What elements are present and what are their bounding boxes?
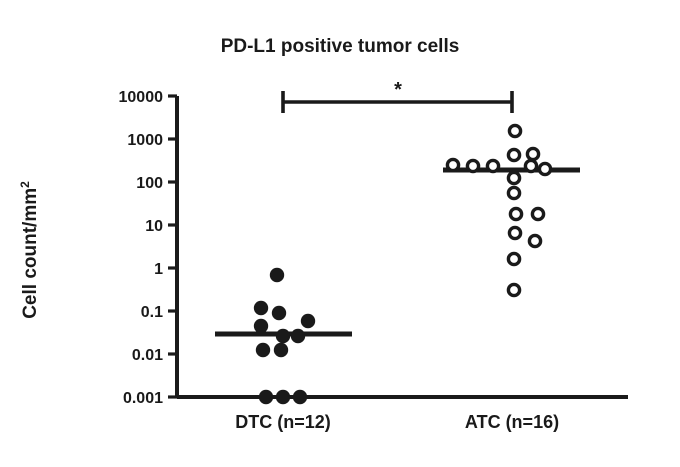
median-lines (215, 170, 580, 334)
axes (168, 96, 628, 397)
y-axis-title-group: Cell count/mm2 (18, 181, 41, 319)
y-axis-tick-label-5: 0.1 (141, 304, 163, 321)
dtc-point-1 (254, 301, 268, 315)
y-axis-tick-label-1: 1000 (127, 132, 163, 149)
y-axis-tick-label-4: 1 (154, 261, 163, 278)
atc-point-10 (510, 208, 521, 219)
atc-point-9 (508, 187, 519, 198)
dtc-point-11 (293, 390, 307, 404)
y-axis-tick-label-2: 100 (136, 175, 163, 192)
atc-point-14 (508, 253, 519, 264)
atc-point-13 (529, 235, 540, 246)
dtc-point-6 (291, 329, 305, 343)
atc-point-15 (508, 284, 519, 295)
dtc-point-8 (274, 343, 288, 357)
dtc-point-0 (270, 268, 284, 282)
chart-title: PD-L1 positive tumor cells (221, 36, 460, 57)
atc-point-0 (509, 125, 520, 136)
y-axis-tick-label-0: 10000 (119, 89, 164, 106)
dtc-point-5 (276, 329, 290, 343)
y-axis-title: Cell count/mm2 (18, 181, 41, 319)
atc-point-7 (539, 163, 550, 174)
x-axis-group-label-dtc: DTC (n=12) (235, 412, 331, 432)
y-axis-tick-labels: 1000010001001010.10.010.001 (119, 89, 164, 407)
atc-point-6 (487, 160, 498, 171)
dtc-point-9 (259, 390, 273, 404)
significance-asterisk: * (394, 79, 402, 101)
dtc-point-3 (301, 314, 315, 328)
dtc-point-10 (276, 390, 290, 404)
atc-data-points (447, 125, 550, 295)
significance-annotation: * (283, 79, 512, 113)
y-axis-tick-label-7: 0.001 (123, 390, 163, 407)
dtc-point-4 (254, 319, 268, 333)
atc-point-5 (467, 160, 478, 171)
atc-point-8 (508, 172, 519, 183)
y-axis-tick-label-3: 10 (145, 218, 163, 235)
atc-point-11 (532, 208, 543, 219)
atc-point-2 (527, 148, 538, 159)
scatter-plot-svg: PD-L1 positive tumor cells * Cell count/… (0, 0, 680, 467)
atc-point-12 (509, 227, 520, 238)
atc-point-3 (525, 160, 536, 171)
x-axis-group-label-atc: ATC (n=16) (465, 412, 559, 432)
atc-point-4 (447, 159, 458, 170)
dtc-point-7 (256, 343, 270, 357)
y-axis-title-base: Cell count/mm (20, 188, 41, 319)
chart-figure: PD-L1 positive tumor cells * Cell count/… (0, 0, 680, 467)
y-axis-title-exponent: 2 (18, 181, 32, 188)
atc-point-1 (508, 149, 519, 160)
dtc-point-2 (272, 306, 286, 320)
y-axis-tick-label-6: 0.01 (132, 347, 163, 364)
